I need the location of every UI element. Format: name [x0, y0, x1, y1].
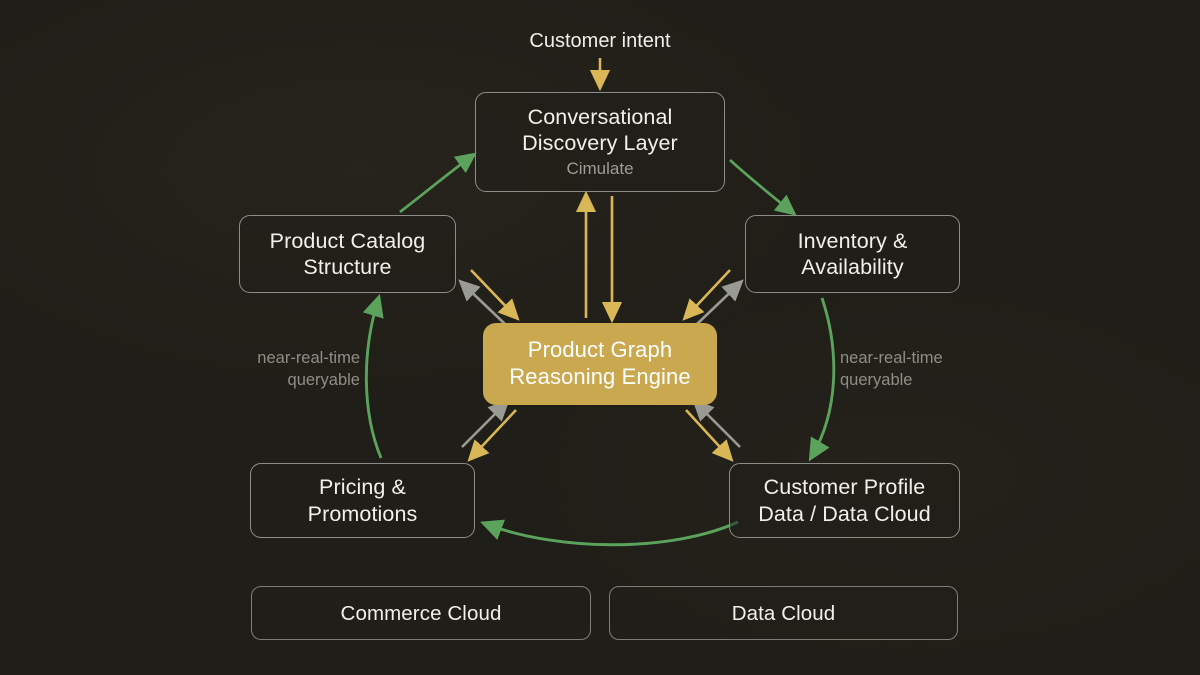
customer-title-line2: Data / Data Cloud [758, 501, 931, 527]
node-inventory-availability[interactable]: Inventory & Availability [745, 215, 960, 293]
caption-right-line2: queryable [840, 370, 1040, 392]
discovery-title-line1: Conversational [528, 104, 673, 130]
node-conversational-discovery-layer[interactable]: Conversational Discovery Layer Cimulate [475, 92, 725, 192]
commerce-cloud-title: Commerce Cloud [341, 601, 502, 626]
discovery-subtitle: Cimulate [566, 159, 633, 180]
discovery-title-line2: Discovery Layer [522, 130, 678, 156]
caption-left-line1: near-real-time [180, 348, 360, 370]
inventory-title-line2: Availability [801, 254, 903, 280]
arrow-hub-to-inventory-gray [696, 283, 740, 325]
caption-right-line1: near-real-time [840, 348, 1040, 370]
node-data-cloud[interactable]: Data Cloud [609, 586, 958, 640]
node-product-catalog-structure[interactable]: Product Catalog Structure [239, 215, 456, 293]
arrow-hub-to-customer-gold [686, 410, 730, 458]
arrow-customer-to-hub-gray [696, 403, 740, 447]
customer-title-line1: Customer Profile [764, 474, 926, 500]
pricing-title-line1: Pricing & [319, 474, 406, 500]
caption-left-near-real-time: near-real-time queryable [180, 348, 360, 392]
arrow-inventory-to-customer [812, 298, 834, 456]
arrow-catalog-to-hub-gold [471, 270, 516, 317]
node-commerce-cloud[interactable]: Commerce Cloud [251, 586, 591, 640]
customer-intent-label: Customer intent [0, 30, 1200, 53]
pricing-title-line2: Promotions [308, 501, 418, 527]
hub-title-line2: Reasoning Engine [509, 364, 690, 391]
hub-title-line1: Product Graph [528, 337, 672, 364]
arrow-inventory-to-hub-gold [686, 270, 730, 317]
node-product-graph-reasoning-engine[interactable]: Product Graph Reasoning Engine [483, 323, 717, 405]
diagram-canvas: Customer intent Conversational Discovery… [0, 0, 1200, 675]
caption-right-near-real-time: near-real-time queryable [840, 348, 1040, 392]
node-pricing-promotions[interactable]: Pricing & Promotions [250, 463, 475, 538]
catalog-title-line2: Structure [303, 254, 391, 280]
catalog-title-line1: Product Catalog [270, 228, 426, 254]
node-customer-profile-data[interactable]: Customer Profile Data / Data Cloud [729, 463, 960, 538]
arrow-discovery-to-inventory [730, 160, 792, 212]
arrow-catalog-to-discovery [400, 156, 472, 212]
data-cloud-title: Data Cloud [732, 601, 836, 626]
arrow-hub-to-catalog-gray [462, 283, 506, 325]
arrow-pricing-to-hub-gray [462, 403, 506, 447]
arrow-customer-to-pricing [486, 522, 738, 545]
inventory-title-line1: Inventory & [798, 228, 908, 254]
arrow-pricing-to-catalog [366, 300, 381, 458]
caption-left-line2: queryable [180, 370, 360, 392]
